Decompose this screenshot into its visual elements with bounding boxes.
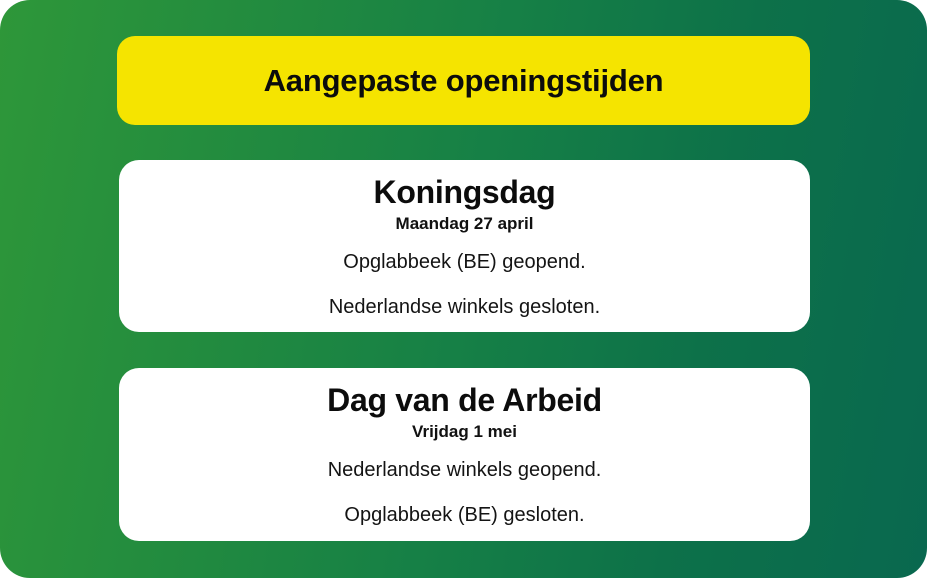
holiday-card-koningsdag: Koningsdag Maandag 27 april Opglabbeek (… xyxy=(119,160,810,332)
card-title: Dag van de Arbeid xyxy=(327,382,602,420)
card-title: Koningsdag xyxy=(374,174,556,212)
card-status-line: Opglabbeek (BE) gesloten. xyxy=(344,503,584,527)
card-date: Maandag 27 april xyxy=(396,214,534,234)
header-banner: Aangepaste openingstijden xyxy=(117,36,810,125)
card-status-line: Nederlandse winkels gesloten. xyxy=(329,295,600,319)
card-status-line: Nederlandse winkels geopend. xyxy=(328,458,602,482)
card-body: Opglabbeek (BE) geopend. Nederlandse win… xyxy=(119,250,810,319)
card-status-line: Opglabbeek (BE) geopend. xyxy=(343,250,585,274)
card-body: Nederlandse winkels geopend. Opglabbeek … xyxy=(119,458,810,527)
card-date: Vrijdag 1 mei xyxy=(412,422,517,442)
holiday-card-dag-van-de-arbeid: Dag van de Arbeid Vrijdag 1 mei Nederlan… xyxy=(119,368,810,541)
opening-hours-poster: Aangepaste openingstijden Koningsdag Maa… xyxy=(0,0,927,578)
banner-title: Aangepaste openingstijden xyxy=(264,65,664,96)
